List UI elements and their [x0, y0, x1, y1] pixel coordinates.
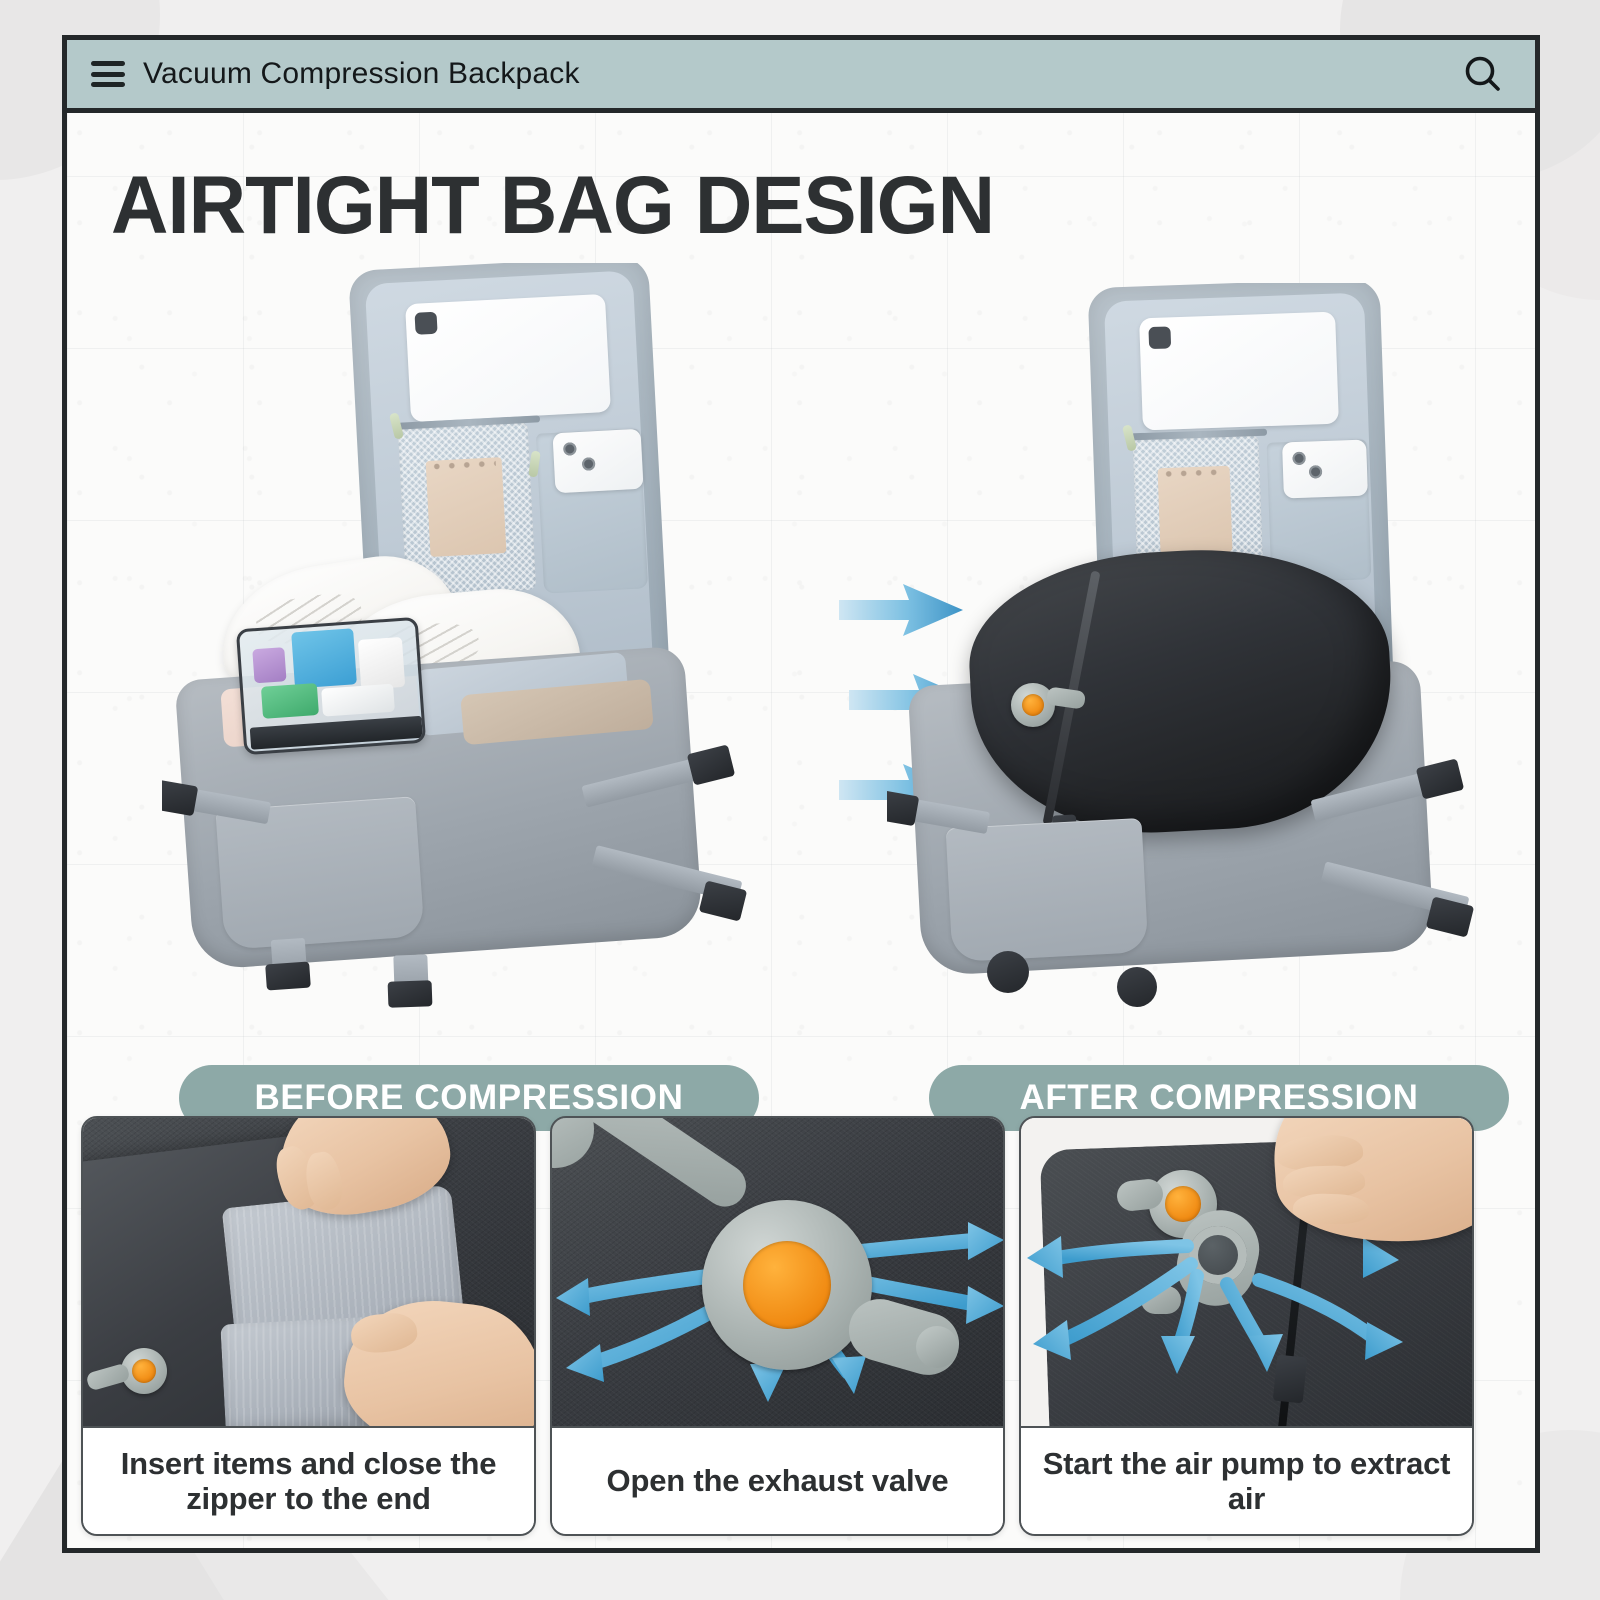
step-1-caption: Insert items and close the zipper to the… [83, 1426, 534, 1534]
after-compression-photo [887, 283, 1507, 1033]
step-3-photo [1021, 1118, 1472, 1426]
step-card-3[interactable]: Start the air pump to extract air [1019, 1116, 1474, 1536]
content-frame: Vacuum Compression Backpack AIRTIGHT BAG… [62, 35, 1540, 1553]
tablet-in-lid [405, 294, 611, 422]
header-title: Vacuum Compression Backpack [143, 57, 580, 91]
search-icon[interactable] [1461, 52, 1505, 96]
exhaust-valve [702, 1200, 872, 1370]
app-header: Vacuum Compression Backpack [67, 40, 1535, 113]
phone-in-pocket [552, 429, 643, 494]
step-2-photo [552, 1118, 1003, 1426]
step-card-1[interactable]: Insert items and close the zipper to the… [81, 1116, 536, 1536]
page-title: AIRTIGHT BAG DESIGN [111, 165, 994, 247]
page-root: Vacuum Compression Backpack AIRTIGHT BAG… [0, 0, 1600, 1600]
poster-canvas: AIRTIGHT BAG DESIGN [67, 113, 1535, 1553]
step-1-photo [83, 1118, 534, 1426]
step-2-caption: Open the exhaust valve [552, 1426, 1003, 1534]
before-compression-photo [162, 263, 782, 1033]
toiletry-pouch [236, 617, 426, 755]
step-card-2[interactable]: Open the exhaust valve [550, 1116, 1005, 1536]
step-3-caption: Start the air pump to extract air [1021, 1426, 1472, 1534]
hamburger-menu-icon[interactable] [91, 61, 125, 87]
